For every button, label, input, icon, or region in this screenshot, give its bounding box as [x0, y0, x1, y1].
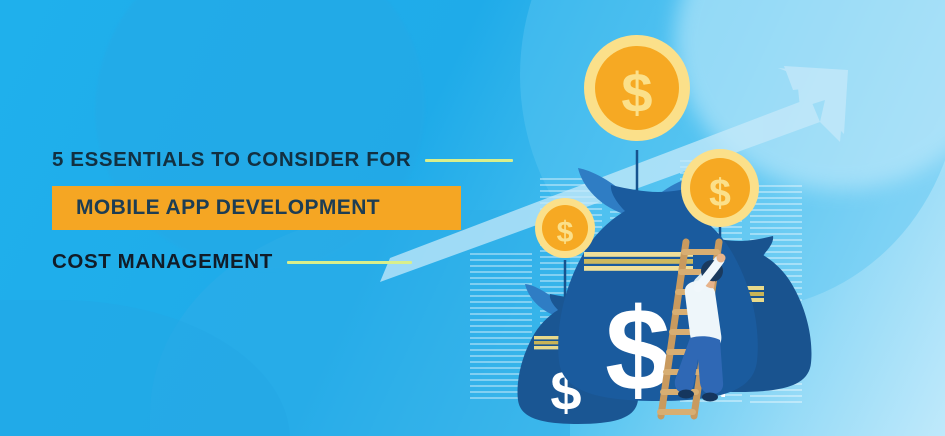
coin-large-top: $ — [584, 35, 690, 141]
coin-large-top-dollar-sign: $ — [621, 61, 652, 124]
coin-small-left: $ — [535, 198, 595, 258]
money-growth-illustration: $ $ $ — [470, 20, 870, 436]
headline-rule-three — [287, 261, 412, 264]
banner: 5 ESSENTIALS TO CONSIDER FOR MOBILE APP … — [0, 0, 945, 436]
headline-line-three: COST MANAGEMENT — [52, 250, 273, 274]
headline-line-one: 5 ESSENTIALS TO CONSIDER FOR — [52, 148, 411, 172]
headline-block: 5 ESSENTIALS TO CONSIDER FOR MOBILE APP … — [52, 148, 513, 274]
headline-line-three-row: COST MANAGEMENT — [52, 250, 513, 274]
coin-small-left-dollar-sign: $ — [557, 216, 574, 249]
coin-medium-right: $ — [681, 149, 759, 227]
coin-medium-right-dollar-sign: $ — [709, 172, 731, 215]
headline-highlight-text: MOBILE APP DEVELOPMENT — [76, 196, 380, 220]
headline-line-one-row: 5 ESSENTIALS TO CONSIDER FOR — [52, 148, 513, 172]
headline-highlight-box: MOBILE APP DEVELOPMENT — [52, 186, 461, 230]
